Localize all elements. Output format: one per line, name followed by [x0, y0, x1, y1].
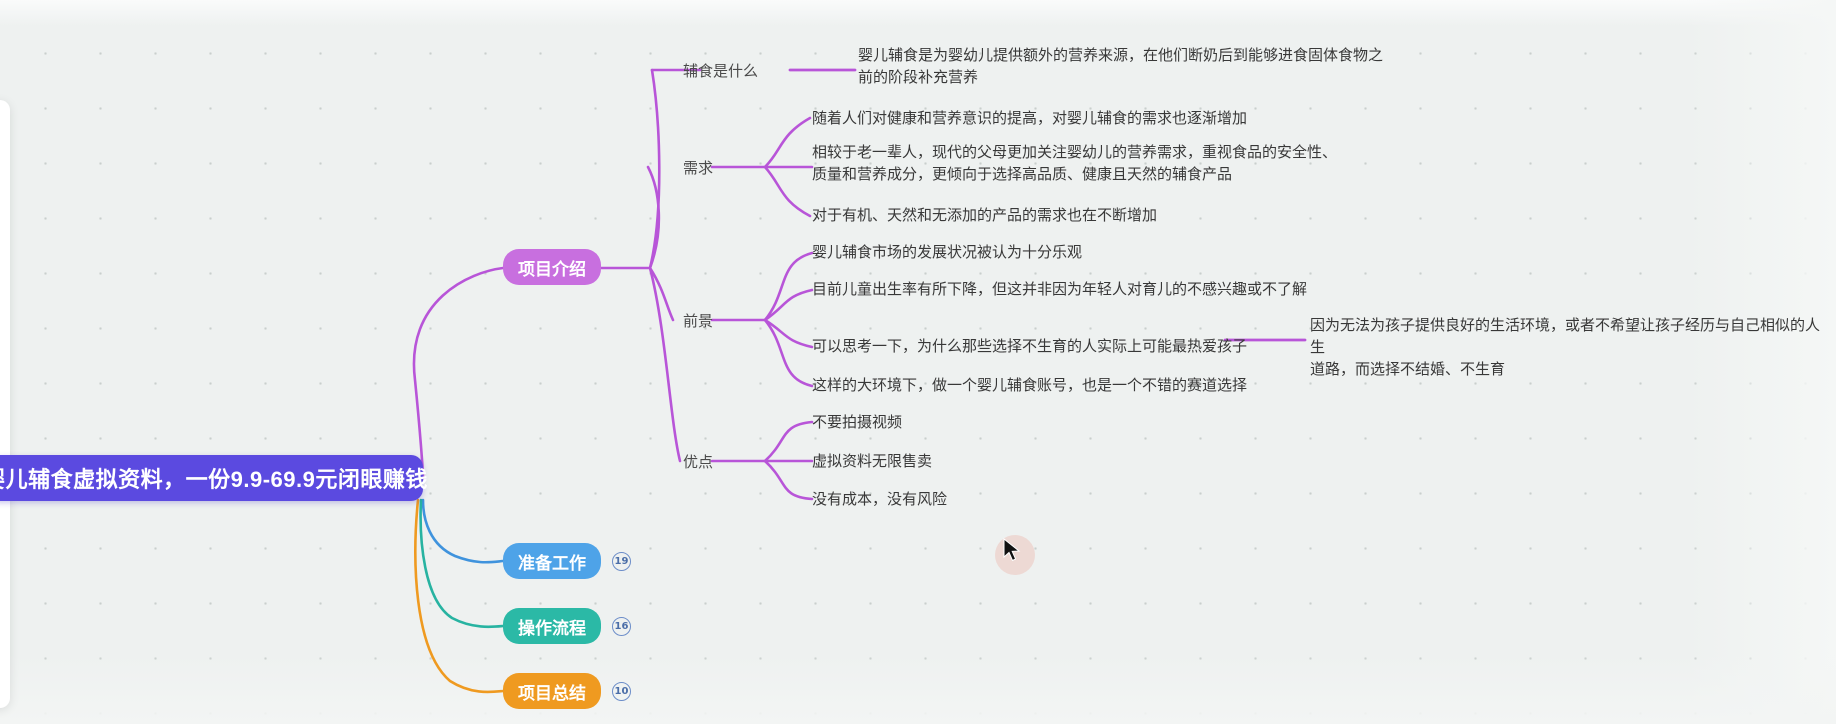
leaf-demand-3[interactable]: 对于有机、天然和无添加的产品的需求也在不断增加 [812, 205, 1157, 227]
leaf-prospects-3[interactable]: 可以思考一下，为什么那些选择不生育的人实际上可能最热爱孩子 [812, 336, 1247, 358]
leaf-advantages-2[interactable]: 虚拟资料无限售卖 [812, 451, 932, 473]
leaf-what-is-baby-food-1[interactable]: 婴儿辅食是为婴幼儿提供额外的营养来源，在他们断奶后到能够进食固体食物之 前的阶段… [858, 45, 1398, 89]
leaf-prospects-1[interactable]: 婴儿辅食市场的发展状况被认为十分乐观 [812, 242, 1082, 264]
badge-preparation-count[interactable]: 19 [612, 552, 631, 571]
left-side-panel[interactable] [0, 100, 10, 708]
leaf-prospects-2[interactable]: 目前儿童出生率有所下降，但这并非因为年轻人对育儿的不感兴趣或不了解 [812, 279, 1307, 301]
subtopic-demand[interactable]: 需求 [683, 157, 713, 178]
branch-node-project-summary[interactable]: 项目总结 [503, 673, 601, 709]
mouse-pointer-icon [1002, 538, 1024, 564]
root-node[interactable]: 婴儿辅食虚拟资料，一份9.9-69.9元闭眼赚钱 [0, 455, 423, 501]
subtopic-prospects[interactable]: 前景 [683, 310, 713, 331]
leaf-prospects-4[interactable]: 这样的大环境下，做一个婴儿辅食账号，也是一个不错的赛道选择 [812, 375, 1247, 397]
leaf-prospects-3-detail[interactable]: 因为无法为孩子提供良好的生活环境，或者不希望让孩子经历与自己相似的人生 道路，而… [1310, 315, 1830, 381]
branch-node-operation-flow[interactable]: 操作流程 [503, 608, 601, 644]
leaf-advantages-3[interactable]: 没有成本，没有风险 [812, 489, 947, 511]
badge-project-summary-count[interactable]: 10 [612, 682, 631, 701]
leaf-advantages-1[interactable]: 不要拍摄视频 [812, 412, 902, 434]
branch-node-preparation[interactable]: 准备工作 [503, 543, 601, 579]
branch-node-project-intro[interactable]: 项目介绍 [503, 249, 601, 285]
subtopic-what-is-baby-food[interactable]: 辅食是什么 [683, 60, 758, 81]
leaf-demand-2[interactable]: 相较于老一辈人，现代的父母更加关注婴幼儿的营养需求，重视食品的安全性、 质量和营… [812, 142, 1352, 186]
badge-operation-flow-count[interactable]: 16 [612, 617, 631, 636]
subtopic-advantages[interactable]: 优点 [683, 451, 713, 472]
leaf-demand-1[interactable]: 随着人们对健康和营养意识的提高，对婴儿辅食的需求也逐渐增加 [812, 108, 1247, 130]
